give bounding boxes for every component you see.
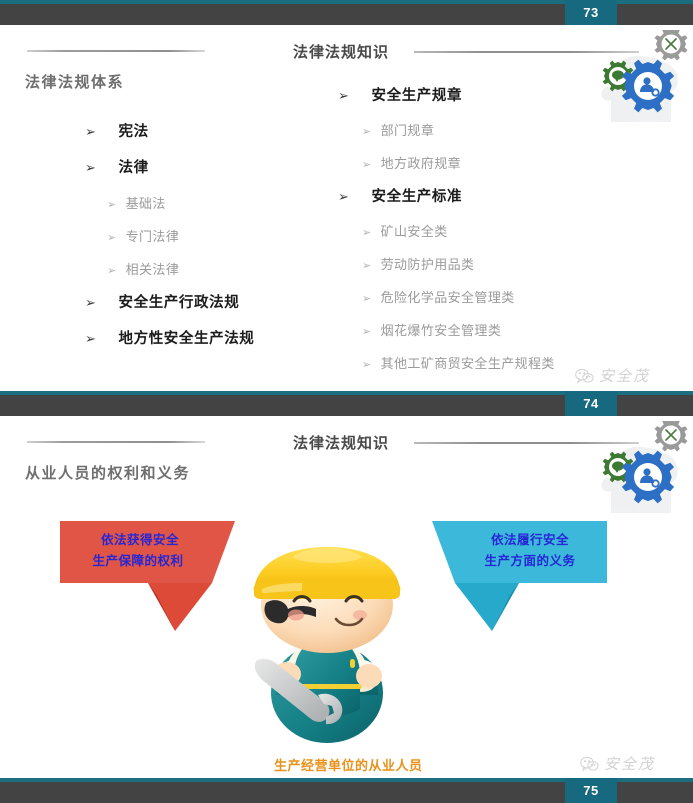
bullet-label: 基础法 (126, 193, 166, 212)
bullet-label: 危险化学品安全管理类 (381, 287, 515, 306)
bullet-arrow-icon: ➢ (85, 296, 97, 311)
bullet-arrow-icon: ➢ (338, 89, 350, 104)
mascot-head (254, 547, 401, 653)
bullet-arrow-icon: ➢ (338, 190, 350, 205)
bullet-right-2: ➢ 部门规章 (362, 120, 434, 139)
bullet-label: 法律 (119, 156, 149, 177)
bullet-left-5: ➢ 相关法律 (107, 259, 179, 278)
bullet-left-3: ➢ 基础法 (107, 193, 166, 212)
bullet-label: 安全生产行政法规 (119, 291, 240, 312)
bubble-right-line2: 生产方面的义务 (460, 551, 600, 572)
slide-74-title: 法律法规知识 (293, 432, 389, 453)
bullet-right-7: ➢ 危险化学品安全管理类 (362, 287, 515, 306)
bullet-arrow-icon: ➢ (362, 158, 372, 171)
bullet-label: 相关法律 (126, 259, 180, 278)
page-number-badge-75: 75 (565, 778, 617, 803)
bullet-label: 地方性安全生产法规 (119, 327, 255, 348)
bullet-right-9: ➢ 其他工矿商贸安全生产规程类 (362, 353, 555, 372)
bullet-left-2: ➢ 法律 (85, 156, 149, 177)
slide-73: 法律法规知识 法律法规体系 (0, 25, 693, 391)
watermark-slide-73: 安全茂 (575, 365, 650, 386)
bullet-arrow-icon: ➢ (85, 332, 97, 347)
slide-73-subtitle: 法律法规体系 (25, 71, 124, 92)
bullet-arrow-icon: ➢ (362, 325, 372, 338)
bullet-label: 烟花爆竹安全管理类 (381, 320, 502, 339)
bullet-label: 其他工矿商贸安全生产规程类 (381, 353, 555, 372)
page-number-badge-73: 73 (565, 0, 617, 25)
hard-hat-icon (254, 547, 401, 599)
tools-gear-icon (655, 30, 688, 61)
bullet-arrow-icon: ➢ (107, 231, 117, 244)
bullet-label: 专门法律 (126, 226, 180, 245)
header-rule-left (27, 50, 205, 52)
bullet-arrow-icon: ➢ (362, 292, 372, 305)
bullet-arrow-icon: ➢ (107, 198, 117, 211)
bullet-left-1: ➢ 宪法 (85, 120, 149, 141)
bullet-label: 安全生产规章 (372, 84, 463, 105)
right-cheek (353, 610, 367, 620)
bubble-left-line1: 依法获得安全 (76, 530, 204, 551)
bullet-arrow-icon: ➢ (85, 125, 97, 140)
slide-74: 法律法规知识 从业人员的权利和义务 (0, 416, 693, 778)
bullet-arrow-icon: ➢ (362, 226, 372, 239)
bullet-arrow-icon: ➢ (362, 125, 372, 138)
watermark-label: 安全茂 (604, 753, 655, 774)
head-gears-decoration (585, 421, 693, 517)
bullet-label: 安全生产标准 (372, 185, 463, 206)
bullet-label: 部门规章 (381, 120, 435, 139)
bullet-arrow-icon: ➢ (107, 264, 117, 277)
wechat-icon (575, 368, 594, 384)
bubble-left-line2: 生产保障的权利 (68, 551, 208, 572)
bullet-left-4: ➢ 专门法律 (107, 226, 179, 245)
bullet-arrow-icon: ➢ (85, 161, 97, 176)
bullet-right-1: ➢ 安全生产规章 (338, 84, 462, 105)
bullet-label: 矿山安全类 (381, 221, 448, 240)
bullet-label: 宪法 (119, 120, 149, 141)
bullet-right-4: ➢ 安全生产标准 (338, 185, 462, 206)
watermark-label: 安全茂 (599, 365, 650, 386)
speech-bubble-rights: 依法获得安全 生产保障的权利 (60, 521, 235, 631)
tools-gear-icon (655, 421, 688, 452)
bullet-right-6: ➢ 劳动防护用品类 (362, 254, 474, 273)
bullet-arrow-icon: ➢ (362, 259, 372, 272)
slide-74-subtitle: 从业人员的权利和义务 (25, 462, 190, 483)
mascot-caption: 生产经营单位的从业人员 (274, 755, 423, 774)
bullet-left-6: ➢ 安全生产行政法规 (85, 291, 239, 312)
watermark-slide-74: 安全茂 (580, 753, 655, 774)
bubble-right-line1: 依法履行安全 (466, 530, 594, 551)
bullet-right-5: ➢ 矿山安全类 (362, 221, 448, 240)
header-rule-left (27, 441, 205, 443)
worker-mascot-illustration (232, 543, 422, 753)
bullet-left-7: ➢ 地方性安全生产法规 (85, 327, 254, 348)
bullet-arrow-icon: ➢ (362, 358, 372, 371)
bullet-right-8: ➢ 烟花爆竹安全管理类 (362, 320, 501, 339)
wechat-icon (580, 756, 599, 772)
slide-separator-bar-top: 73 (0, 0, 693, 25)
bullet-right-3: ➢ 地方政府规章 (362, 153, 461, 172)
bullet-label: 劳动防护用品类 (381, 254, 475, 273)
speech-bubble-duties: 依法履行安全 生产方面的义务 (432, 521, 607, 631)
bullet-label: 地方政府规章 (381, 153, 461, 172)
head-gears-decoration (585, 30, 693, 126)
slide-73-title: 法律法规知识 (293, 41, 389, 62)
page-number-badge-74: 74 (565, 391, 617, 416)
slide-separator-bar-bottom: 75 (0, 778, 693, 803)
left-cheek (288, 610, 304, 621)
slide-separator-bar-middle: 74 (0, 391, 693, 416)
